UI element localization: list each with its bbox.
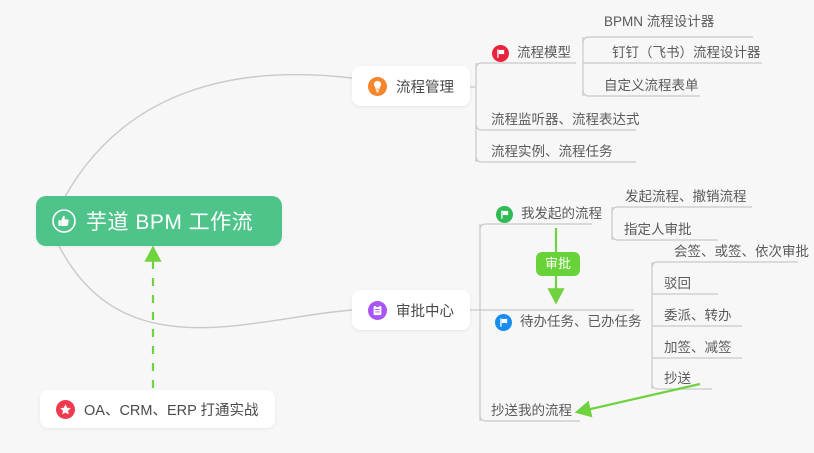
integration-card-label: OA、CRM、ERP 打通实战 bbox=[84, 399, 259, 420]
integration-card[interactable]: OA、CRM、ERP 打通实战 bbox=[40, 390, 275, 428]
node-todo-done-tasks-label: 待办任务、已办任务 bbox=[520, 313, 642, 331]
connector-branch-process-model bbox=[476, 63, 576, 69]
node-cc[interactable]: 抄送 bbox=[664, 370, 691, 388]
node-dingtalk-designer[interactable]: 钉钉（飞书）流程设计器 bbox=[612, 44, 761, 62]
flag-icon bbox=[492, 45, 509, 62]
node-todo-done-tasks[interactable]: 待办任务、已办任务 bbox=[495, 313, 642, 331]
root-node[interactable]: 芋道 BPM 工作流 bbox=[36, 196, 282, 246]
thumbs-up-icon bbox=[52, 209, 76, 233]
node-countersign[interactable]: 会签、或签、依次审批 bbox=[674, 243, 809, 261]
node-countersign-label: 会签、或签、依次审批 bbox=[674, 244, 809, 259]
connector-child-start-cancel bbox=[612, 207, 752, 213]
node-cc-to-me-process-label: 抄送我的流程 bbox=[491, 403, 572, 418]
node-my-initiated-process[interactable]: 我发起的流程 bbox=[496, 205, 602, 223]
node-add-remove-sign[interactable]: 加签、减签 bbox=[664, 339, 732, 357]
node-start-cancel-process-label: 发起流程、撤销流程 bbox=[625, 189, 747, 204]
flag-icon bbox=[495, 314, 512, 331]
branch-approval-center[interactable]: 审批中心 bbox=[352, 290, 470, 330]
node-delegate-transfer[interactable]: 委派、转办 bbox=[664, 307, 732, 325]
approval-badge: 审批 bbox=[536, 252, 580, 276]
branch-process-management-label: 流程管理 bbox=[396, 76, 454, 97]
node-cc-to-me-process[interactable]: 抄送我的流程 bbox=[491, 402, 572, 420]
connector-child-bpmn-designer bbox=[583, 37, 753, 43]
flag-icon bbox=[496, 206, 513, 223]
approval-badge-label: 审批 bbox=[545, 256, 571, 271]
connector-branch-my-initiated bbox=[480, 224, 592, 230]
node-process-model[interactable]: 流程模型 bbox=[492, 44, 571, 62]
mindmap-canvas: 芋道 BPM 工作流 流程管理 流程模型 BPMN 流程设计器 钉钉（飞书）流程 bbox=[0, 0, 814, 453]
node-custom-form[interactable]: 自定义流程表单 bbox=[604, 77, 699, 95]
node-start-cancel-process[interactable]: 发起流程、撤销流程 bbox=[625, 188, 747, 206]
node-reject-label: 驳回 bbox=[664, 276, 691, 291]
node-my-initiated-process-label: 我发起的流程 bbox=[521, 205, 602, 223]
node-dingtalk-designer-label: 钉钉（飞书）流程设计器 bbox=[612, 45, 761, 60]
node-process-listener-label: 流程监听器、流程表达式 bbox=[491, 112, 640, 127]
node-cc-label: 抄送 bbox=[664, 371, 691, 386]
connector-child-countersign bbox=[652, 262, 798, 268]
node-custom-form-label: 自定义流程表单 bbox=[604, 78, 699, 93]
node-process-instance-label: 流程实例、流程任务 bbox=[491, 144, 613, 159]
node-process-listener[interactable]: 流程监听器、流程表达式 bbox=[491, 111, 640, 129]
connector-root-to-approval-center bbox=[56, 240, 352, 328]
branch-approval-center-label: 审批中心 bbox=[396, 300, 454, 321]
branch-process-management[interactable]: 流程管理 bbox=[352, 66, 470, 106]
node-reject[interactable]: 驳回 bbox=[664, 275, 691, 293]
root-label: 芋道 BPM 工作流 bbox=[86, 206, 253, 236]
clipboard-icon bbox=[368, 301, 387, 320]
connector-root-to-process-management bbox=[56, 75, 352, 214]
node-bpmn-designer-label: BPMN 流程设计器 bbox=[604, 14, 714, 29]
arrow-cc-to-cc-to-me bbox=[582, 384, 700, 411]
node-bpmn-designer[interactable]: BPMN 流程设计器 bbox=[604, 13, 714, 31]
node-process-model-label: 流程模型 bbox=[517, 44, 571, 62]
node-designated-approver[interactable]: 指定人审批 bbox=[624, 221, 692, 239]
lightbulb-icon bbox=[368, 77, 387, 96]
star-icon bbox=[56, 400, 75, 419]
node-add-remove-sign-label: 加签、减签 bbox=[664, 340, 732, 355]
node-designated-approver-label: 指定人审批 bbox=[624, 222, 692, 237]
node-process-instance[interactable]: 流程实例、流程任务 bbox=[491, 143, 613, 161]
node-delegate-transfer-label: 委派、转办 bbox=[664, 308, 732, 323]
